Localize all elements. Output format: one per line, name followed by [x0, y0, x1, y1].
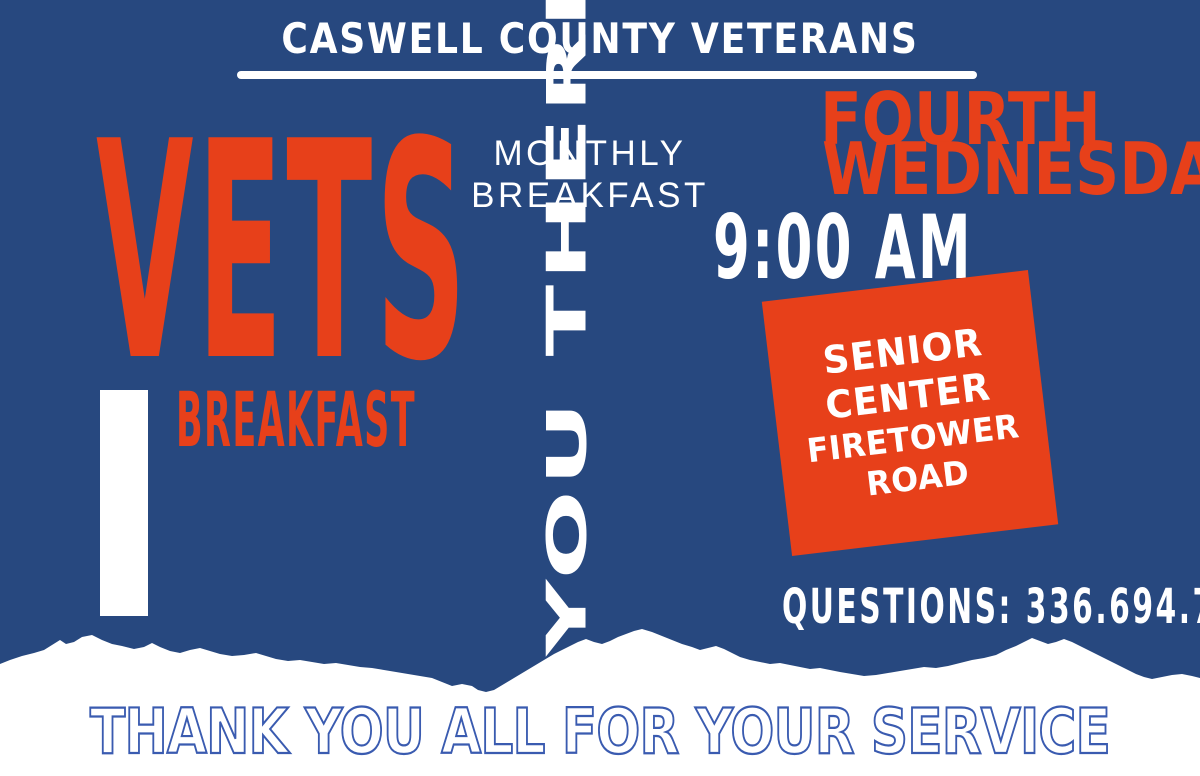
subhead-breakfast: BREAKFAST — [176, 382, 416, 458]
day-line-2: WEDNESDAY — [822, 141, 1200, 197]
event-time: 9:00 AM — [713, 204, 973, 292]
thank-you-outline-svg: THANK YOU ALL FOR YOUR SERVICE — [70, 695, 1130, 775]
flyer-canvas: CASWELL COUNTY VETERANS VETS BREAKFAST M… — [0, 0, 1200, 776]
contact-phone: QUESTIONS: 336.694.7447 — [782, 583, 1200, 631]
location-card: SENIOR CENTER FIRETOWER ROAD — [762, 270, 1058, 556]
white-accent-bar — [100, 390, 148, 616]
page-title: CASWELL COUNTY VETERANS — [84, 14, 1116, 63]
thank-you-text: THANK YOU ALL FOR YOUR SERVICE — [90, 695, 1110, 768]
location-text-block: SENIOR CENTER FIRETOWER ROAD — [767, 314, 1053, 515]
footer-thank-you: THANK YOU ALL FOR YOUR SERVICE — [0, 694, 1200, 776]
see-you-there-vertical-text: SEE YOU THERE — [540, 0, 595, 776]
headline-vets: VETS — [96, 103, 470, 403]
